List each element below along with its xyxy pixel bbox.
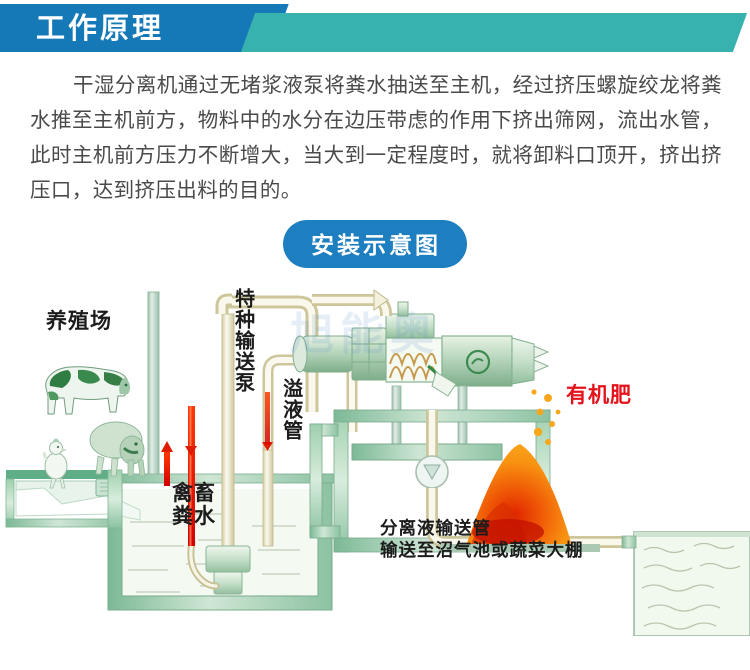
label-separated-liquid: 分离液输送管 输送至沼气池或蔬菜大棚: [380, 519, 584, 563]
page-header-banner: 工作原理: [0, 0, 750, 54]
page-title: 工作原理: [36, 9, 164, 47]
installation-diagram-badge: 安装示意图: [283, 220, 467, 268]
farm-platform-group: [6, 470, 140, 528]
livestock-illustrations: [43, 367, 145, 488]
label-manure-water: 禽畜粪水: [172, 482, 226, 527]
sheep-icon: [90, 422, 145, 476]
diagram-canvas: [0, 274, 750, 654]
label-separated-liquid-line2: 输送至沼气池或蔬菜大棚: [380, 541, 584, 563]
label-special-pump: 特种输送泵: [232, 288, 254, 393]
label-overflow-pipe: 溢液管: [280, 378, 302, 441]
ground-band: [0, 636, 750, 654]
intro-paragraph: 干湿分离机通过无堵浆液泵将粪水抽送至主机，经过挤压螺旋绞龙将粪水推至主机前方，物…: [30, 68, 722, 208]
installation-diagram: 旭能奥 养殖场 特种输送泵 溢液管 禽畜粪水 有机肥 分离液输送管 输送至沼气池…: [0, 274, 750, 654]
reservoir-tank-group: [622, 532, 750, 636]
banner-teal-shape: [241, 13, 747, 52]
label-organic-fertilizer: 有机肥: [566, 384, 632, 407]
label-separated-liquid-line1: 分离液输送管: [380, 519, 584, 541]
cow-icon: [46, 367, 130, 414]
label-farm: 养殖场: [46, 310, 112, 333]
support-column: [148, 292, 159, 474]
badge-row: 安装示意图: [0, 220, 750, 268]
